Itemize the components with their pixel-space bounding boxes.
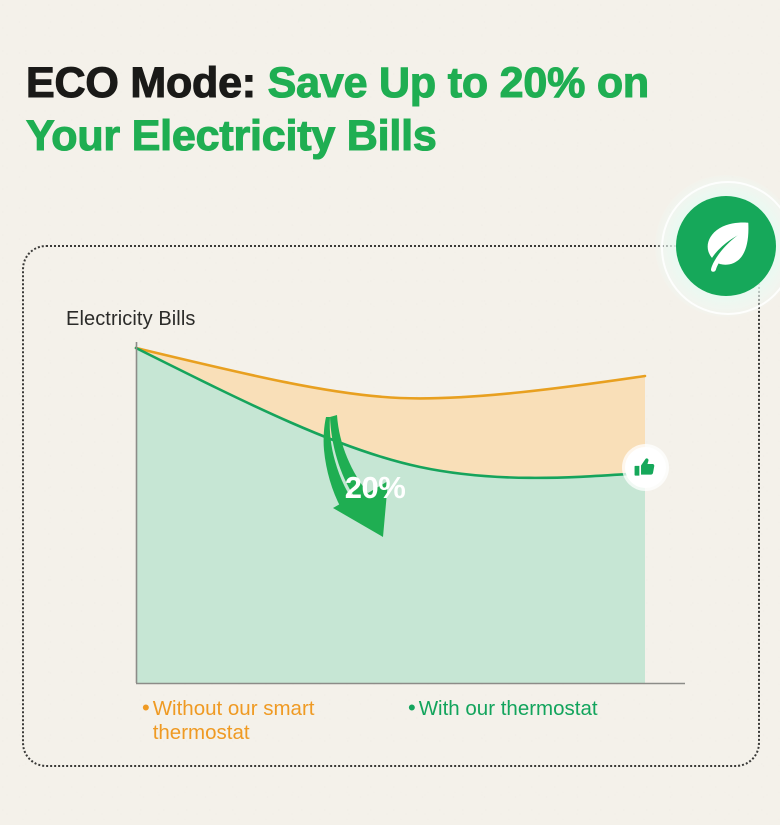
legend-bullet-with: • (408, 697, 416, 719)
legend-label-with: With our thermostat (419, 697, 598, 721)
thumbs-up-icon (633, 455, 658, 480)
legend-label-without: Without our smart thermostat (153, 697, 315, 745)
legend-item-without[interactable]: • Without our smart thermostat (142, 697, 372, 745)
legend-item-with[interactable]: • With our thermostat (408, 697, 688, 721)
page-title: ECO Mode: Save Up to 20% on Your Electri… (26, 57, 726, 163)
savings-arrow-label: 20% (345, 470, 406, 505)
legend-bullet-without: • (142, 697, 150, 719)
y-axis-label: Electricity Bills (66, 308, 196, 331)
chart-legend: • Without our smart thermostat • With ou… (136, 697, 696, 757)
thumbs-up-badge (625, 447, 666, 488)
page-title-lead: ECO Mode: (26, 59, 256, 107)
